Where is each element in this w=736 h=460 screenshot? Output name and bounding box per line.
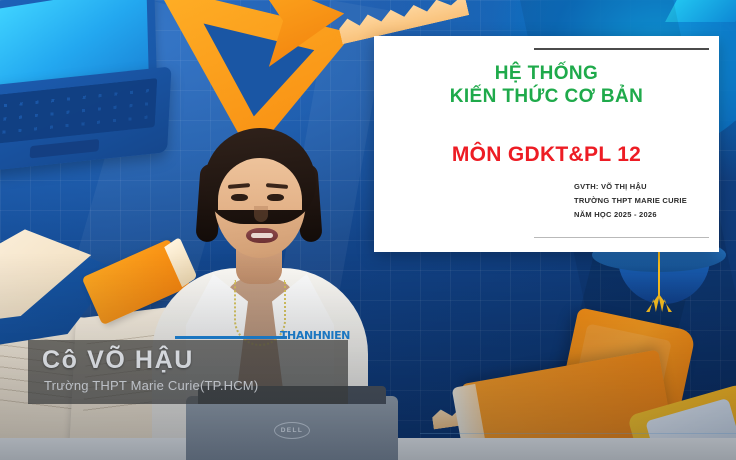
vignette-overlay	[0, 0, 736, 460]
video-frame: DELL HỆ THỐNG KIẾN THỨC CƠ BẢN MÔN GDKT&…	[0, 0, 736, 460]
